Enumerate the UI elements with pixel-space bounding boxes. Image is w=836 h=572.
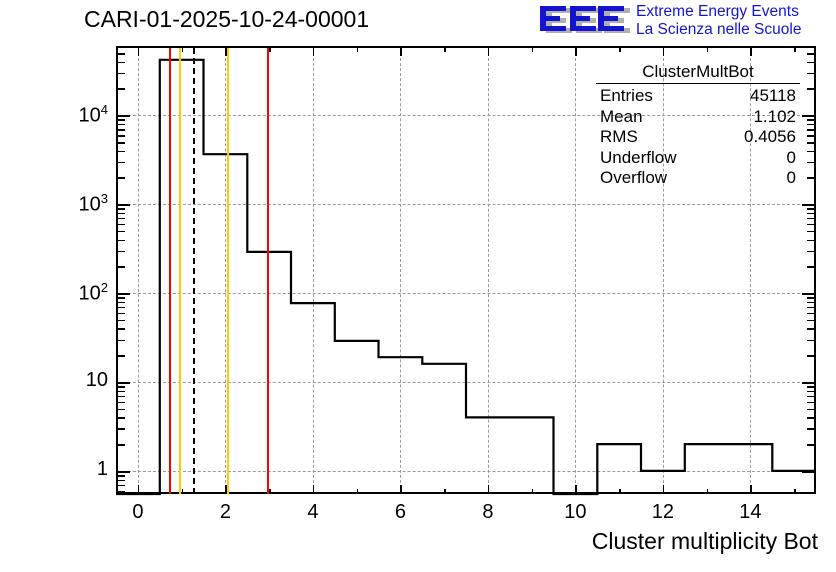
x-axis-tick [663, 485, 665, 494]
y-axis-tick-major [117, 115, 130, 117]
x-axis-tick [750, 485, 752, 494]
stats-row: Entries45118 [596, 86, 800, 107]
y-axis-tick-major-right [802, 471, 815, 473]
y-axis-tick-minor [117, 251, 125, 253]
y-axis-tick-minor [117, 391, 125, 393]
eee-logo-line1: Extreme Energy Events [636, 3, 836, 21]
marker-line-orange-left [179, 48, 181, 494]
x-axis-label: 6 [380, 501, 420, 524]
y-axis-tick-minor [117, 73, 125, 75]
y-axis-tick-minor-right [807, 53, 815, 55]
y-axis-label: 102 [40, 280, 108, 306]
eee-logo-line2: La Scienza nelle Scuole [636, 21, 836, 39]
y-axis-tick-minor [117, 297, 125, 299]
y-axis-tick-minor-right [807, 391, 815, 393]
stats-rows: Entries45118Mean1.102RMS0.4056Underflow0… [596, 86, 800, 189]
y-axis-tick-minor-right [807, 218, 815, 220]
y-axis-tick-minor [117, 428, 125, 430]
y-axis-tick-minor [117, 402, 125, 404]
y-axis-tick-major-right [802, 115, 815, 117]
x-axis-label: 0 [118, 501, 158, 524]
y-axis-tick-minor [117, 124, 125, 126]
y-axis-tick-minor-right [807, 428, 815, 430]
y-axis-tick-minor [117, 340, 125, 342]
y-axis-tick-minor [117, 208, 125, 210]
y-axis-tick-minor-right [807, 307, 815, 309]
y-axis-tick-minor-right [807, 231, 815, 233]
x-axis-tick [313, 485, 315, 494]
y-axis-tick-minor-right [807, 302, 815, 304]
y-axis-tick-minor [117, 53, 125, 55]
y-axis-tick-minor-right [807, 62, 815, 64]
y-axis-label: 103 [40, 191, 108, 217]
x-axis-tick-top [400, 47, 402, 56]
x-axis-tick [400, 485, 402, 494]
stats-row: Underflow0 [596, 148, 800, 169]
x-axis-label: 12 [643, 501, 683, 524]
y-axis-tick-major [117, 204, 130, 206]
y-axis-tick-minor [117, 491, 125, 493]
y-axis-tick-minor-right [807, 73, 815, 75]
eee-logo: Extreme Energy Events La Scienza nelle S… [538, 2, 834, 44]
x-axis-tick [575, 485, 577, 494]
stats-title: ClusterMultBot [596, 62, 800, 84]
stats-row-value: 1.102 [753, 107, 796, 128]
x-axis-tick [182, 489, 184, 494]
stats-row-key: Mean [600, 107, 643, 128]
y-axis-label: 10 [40, 369, 108, 392]
x-axis-tick [357, 489, 359, 494]
y-axis-tick-minor [117, 307, 125, 309]
y-axis-tick-major [117, 293, 130, 295]
y-axis-tick-minor [117, 129, 125, 131]
y-axis-tick-minor-right [807, 119, 815, 121]
x-axis-tick-top [575, 47, 577, 56]
y-axis-tick-minor-right [807, 320, 815, 322]
y-axis-tick-minor-right [807, 396, 815, 398]
x-axis-tick-top [750, 47, 752, 56]
x-axis-label: 2 [205, 501, 245, 524]
y-axis-tick-minor-right [807, 151, 815, 153]
y-axis-tick-minor [117, 46, 125, 48]
y-axis-tick-minor-right [807, 409, 815, 411]
x-axis-label: 14 [730, 501, 770, 524]
y-axis-tick-minor [117, 328, 125, 330]
x-axis-tick-top [794, 47, 796, 52]
stats-row-key: RMS [600, 127, 638, 148]
stats-box: ClusterMultBot Entries45118Mean1.102RMS0… [596, 62, 800, 188]
marker-line-red-right [267, 48, 269, 494]
y-axis-label: 1 [40, 458, 108, 481]
gridline-horizontal [118, 471, 815, 472]
marker-line-black-dashed-mean [193, 48, 195, 494]
eee-logo-mark [538, 5, 630, 37]
x-axis-tick-top [707, 47, 709, 52]
y-axis-tick-minor [117, 444, 125, 446]
eee-logo-text: Extreme Energy Events La Scienza nelle S… [636, 3, 836, 43]
y-axis-tick-minor-right [807, 313, 815, 315]
y-axis-tick-minor-right [807, 88, 815, 90]
stats-row: Overflow0 [596, 168, 800, 189]
stats-row: Mean1.102 [596, 107, 800, 128]
stats-row-value: 0.4056 [744, 127, 796, 148]
y-axis-tick-minor-right [807, 135, 815, 137]
x-axis-tick [794, 489, 796, 494]
x-axis-tick-top [532, 47, 534, 52]
x-axis-tick-top [444, 47, 446, 52]
y-axis-tick-minor [117, 302, 125, 304]
y-axis-tick-minor [117, 62, 125, 64]
y-axis-tick-minor-right [807, 386, 815, 388]
y-axis-tick-major-right [802, 382, 815, 384]
marker-line-orange-right [227, 48, 229, 494]
stats-row-key: Entries [600, 86, 653, 107]
y-axis-tick-minor [117, 396, 125, 398]
x-axis-tick-top [138, 47, 140, 56]
x-axis-tick [488, 485, 490, 494]
y-axis-tick-minor [117, 88, 125, 90]
y-axis-tick-minor [117, 151, 125, 153]
y-axis-tick-minor-right [807, 328, 815, 330]
x-axis-tick [444, 489, 446, 494]
y-axis-tick-minor-right [807, 208, 815, 210]
y-axis-tick-minor [117, 231, 125, 233]
y-axis-tick-minor [117, 409, 125, 411]
y-axis-tick-minor [117, 213, 125, 215]
y-axis-tick-major-right [802, 293, 815, 295]
y-axis-tick-major-right [802, 204, 815, 206]
stats-row-value: 0 [787, 168, 796, 189]
y-axis-tick-minor [117, 320, 125, 322]
x-axis-tick-top [488, 47, 490, 56]
y-axis-tick-minor-right [807, 251, 815, 253]
y-axis-tick-minor-right [807, 46, 815, 48]
y-axis-tick-minor-right [807, 340, 815, 342]
y-axis-tick-minor-right [807, 213, 815, 215]
gridline-horizontal [118, 293, 815, 294]
gridline-horizontal [118, 382, 815, 383]
x-axis-tick-top [663, 47, 665, 56]
y-axis-tick-major [117, 471, 130, 473]
x-axis-tick-top [313, 47, 315, 56]
stats-row: RMS0.4056 [596, 127, 800, 148]
y-axis-tick-minor-right [807, 402, 815, 404]
y-axis-tick-minor [117, 355, 125, 357]
y-axis-tick-minor [117, 218, 125, 220]
marker-line-red-left [169, 48, 171, 494]
stats-row-key: Overflow [600, 168, 667, 189]
y-axis-tick-minor-right [807, 417, 815, 419]
x-axis-label: 10 [555, 501, 595, 524]
y-axis-tick-minor [117, 485, 125, 487]
y-axis-tick-minor-right [807, 177, 815, 179]
x-axis-label: 4 [293, 501, 333, 524]
y-axis-tick-minor-right [807, 444, 815, 446]
y-axis-tick-minor [117, 135, 125, 137]
y-axis-tick-major [117, 382, 130, 384]
y-axis-tick-minor-right [807, 224, 815, 226]
y-axis-tick-minor-right [807, 266, 815, 268]
y-axis-tick-minor-right [807, 124, 815, 126]
y-axis-tick-minor-right [807, 355, 815, 357]
y-axis-tick-minor-right [807, 162, 815, 164]
stats-row-value: 0 [787, 148, 796, 169]
y-axis-label: 104 [40, 102, 108, 128]
root-canvas: CARI-01-2025-10-24-00001 Extreme Energy … [0, 0, 836, 572]
y-axis-tick-minor [117, 266, 125, 268]
y-axis-tick-minor [117, 142, 125, 144]
x-axis-tick-top [182, 47, 184, 52]
x-axis-tick [138, 485, 140, 494]
y-axis-tick-minor [117, 177, 125, 179]
y-axis-tick-minor [117, 224, 125, 226]
x-axis-tick-top [357, 47, 359, 52]
x-axis-tick-top [619, 47, 621, 52]
y-axis-tick-minor-right [807, 129, 815, 131]
x-axis-title: Cluster multiplicity Bot [592, 528, 818, 555]
y-axis-tick-minor [117, 313, 125, 315]
x-axis-tick [619, 489, 621, 494]
y-axis-tick-minor-right [807, 142, 815, 144]
x-axis-tick [532, 489, 534, 494]
y-axis-tick-minor [117, 240, 125, 242]
y-axis-tick-minor-right [807, 240, 815, 242]
y-axis-tick-minor-right [807, 297, 815, 299]
y-axis-tick-minor [117, 475, 125, 477]
x-axis-tick [707, 489, 709, 494]
y-axis-tick-minor [117, 417, 125, 419]
stats-row-value: 45118 [750, 86, 796, 107]
y-axis-tick-minor [117, 386, 125, 388]
x-axis-label: 8 [468, 501, 508, 524]
y-axis-tick-minor [117, 162, 125, 164]
y-axis-tick-minor [117, 119, 125, 121]
page-title: CARI-01-2025-10-24-00001 [84, 6, 369, 33]
gridline-horizontal [118, 204, 815, 205]
stats-row-key: Underflow [600, 148, 677, 169]
y-axis-tick-minor [117, 480, 125, 482]
